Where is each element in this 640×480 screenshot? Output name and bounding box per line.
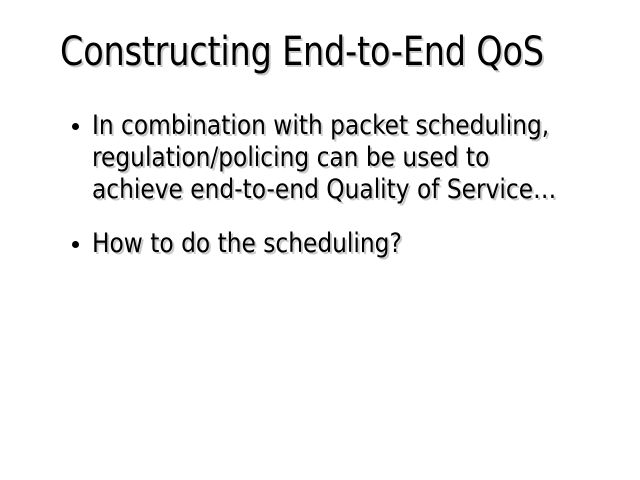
slide-body: In combination with packet scheduling, r…: [68, 110, 588, 260]
round-bullet-icon: [72, 123, 79, 130]
list-item-label: In combination with packet scheduling, r…: [92, 110, 568, 206]
page-title: Constructing End-to-End QoS: [60, 30, 562, 74]
presentation-slide: Constructing End-to-End QoS In combinati…: [0, 0, 640, 480]
round-bullet-icon: [72, 241, 79, 248]
list-item-label: How to do the scheduling?: [92, 228, 568, 260]
list-item: How to do the scheduling?: [68, 228, 588, 260]
list-item: In combination with packet scheduling, r…: [68, 110, 588, 206]
